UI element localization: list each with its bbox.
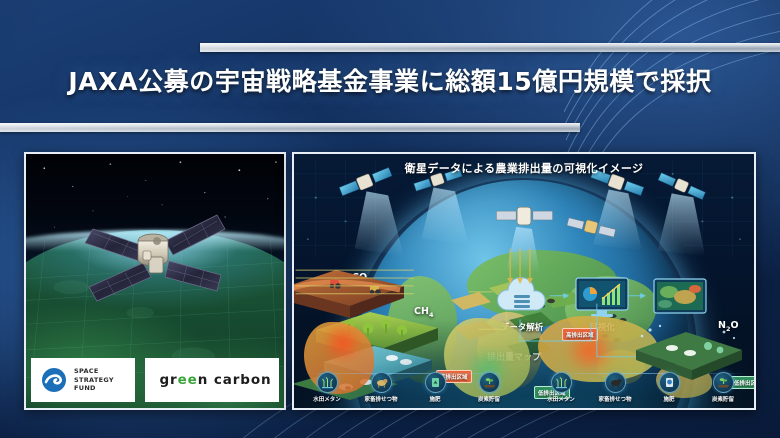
green-carbon-wordmark: green carbon xyxy=(159,372,271,388)
slide-canvas: JAXA公募の宇宙戦略基金事業に総額15億円規模で採択 xyxy=(0,0,780,438)
source-icon-livestock-manure-r[interactable]: 家畜排せつ物 xyxy=(592,372,638,403)
source-icon-carbon-storage-r[interactable]: 炭素貯留 xyxy=(700,372,746,403)
paddy-icon-r xyxy=(551,372,572,393)
livestock-label-r: 家畜排せつ物 xyxy=(592,395,638,403)
source-icon-fertilizer-r[interactable]: 施肥 xyxy=(646,372,692,403)
infographic-title: 衛星データによる農業排出量の可視化イメージ xyxy=(294,160,754,176)
carbon-storage-icon xyxy=(479,372,500,393)
page-title: JAXA公募の宇宙戦略基金事業に総額15億円規模で採択 xyxy=(0,62,780,98)
source-icon-paddy-methane[interactable]: 水田メタン xyxy=(304,372,350,403)
decor-bar-bottom xyxy=(0,123,580,132)
ssf-line-2: STRATEGY xyxy=(74,376,114,385)
headline-container: JAXA公募の宇宙戦略基金事業に総額15億円規模で採択 xyxy=(0,62,780,98)
carbon-storage-label-r: 炭素貯留 xyxy=(700,395,746,403)
fertilizer-label: 施肥 xyxy=(412,395,458,403)
source-icon-carbon-storage[interactable]: 炭素貯留 xyxy=(466,372,512,403)
fertilizer-label-r: 施肥 xyxy=(646,395,692,403)
logo-green-carbon: g green carbon xyxy=(145,358,279,402)
paddy-label-r: 水田メタン xyxy=(538,395,584,403)
right-infographic-panel: 衛星データによる農業排出量の可視化イメージ CO2 CH4 CH4 N2O xyxy=(292,152,756,410)
scan-beam-left-2 xyxy=(422,187,469,244)
carbon-storage-label: 炭素貯留 xyxy=(466,395,512,403)
source-icon-fertilizer[interactable]: 施肥 xyxy=(412,372,458,403)
logo-space-strategy-fund: SPACE STRATEGY FUND xyxy=(31,358,135,402)
source-icon-row-left: 水田メタン 家畜排せつ物 施肥 xyxy=(304,372,512,403)
source-icon-livestock-manure[interactable]: 家畜排せつ物 xyxy=(358,372,404,403)
left-photo-panel: SPACE STRATEGY FUND g green carbon xyxy=(24,152,286,410)
gc-text-pre: gr xyxy=(159,372,177,388)
scan-beam-center xyxy=(506,227,539,272)
livestock-label: 家畜排せつ物 xyxy=(358,395,404,403)
carbon-storage-icon-r xyxy=(713,372,734,393)
paddy-label: 水田メタン xyxy=(304,395,350,403)
livestock-icon-r xyxy=(605,372,626,393)
ssf-line-1: SPACE xyxy=(74,367,114,376)
satellite-photo: SPACE STRATEGY FUND g green carbon xyxy=(26,154,284,408)
gc-text-green: ee xyxy=(178,372,198,388)
paddy-icon xyxy=(317,372,338,393)
downlink-arrowheads xyxy=(507,278,533,284)
satellite-glyph-center xyxy=(496,207,552,225)
infographic-canvas: 衛星データによる農業排出量の可視化イメージ CO2 CH4 CH4 N2O xyxy=(294,154,754,408)
logo-strip: SPACE STRATEGY FUND g green carbon xyxy=(26,352,284,408)
emission-pipes xyxy=(296,270,507,329)
scan-beam-right-2 xyxy=(658,193,705,256)
ssf-wordmark: SPACE STRATEGY FUND xyxy=(74,367,114,393)
ssf-line-3: FUND xyxy=(74,384,114,393)
scan-beam-right xyxy=(593,189,642,250)
gc-text-post: n carbon xyxy=(198,372,272,388)
scan-beam-left xyxy=(355,191,404,256)
source-icon-row-right: 水田メタン 家畜排せつ物 施肥 xyxy=(538,372,746,403)
fertilizer-icon-r xyxy=(659,372,680,393)
swirl-icon xyxy=(41,367,67,393)
fertilizer-icon xyxy=(425,372,446,393)
livestock-icon xyxy=(371,372,392,393)
decor-bar-top xyxy=(200,43,780,52)
source-icon-paddy-methane-r[interactable]: 水田メタン xyxy=(538,372,584,403)
satellite-icon xyxy=(55,181,255,331)
